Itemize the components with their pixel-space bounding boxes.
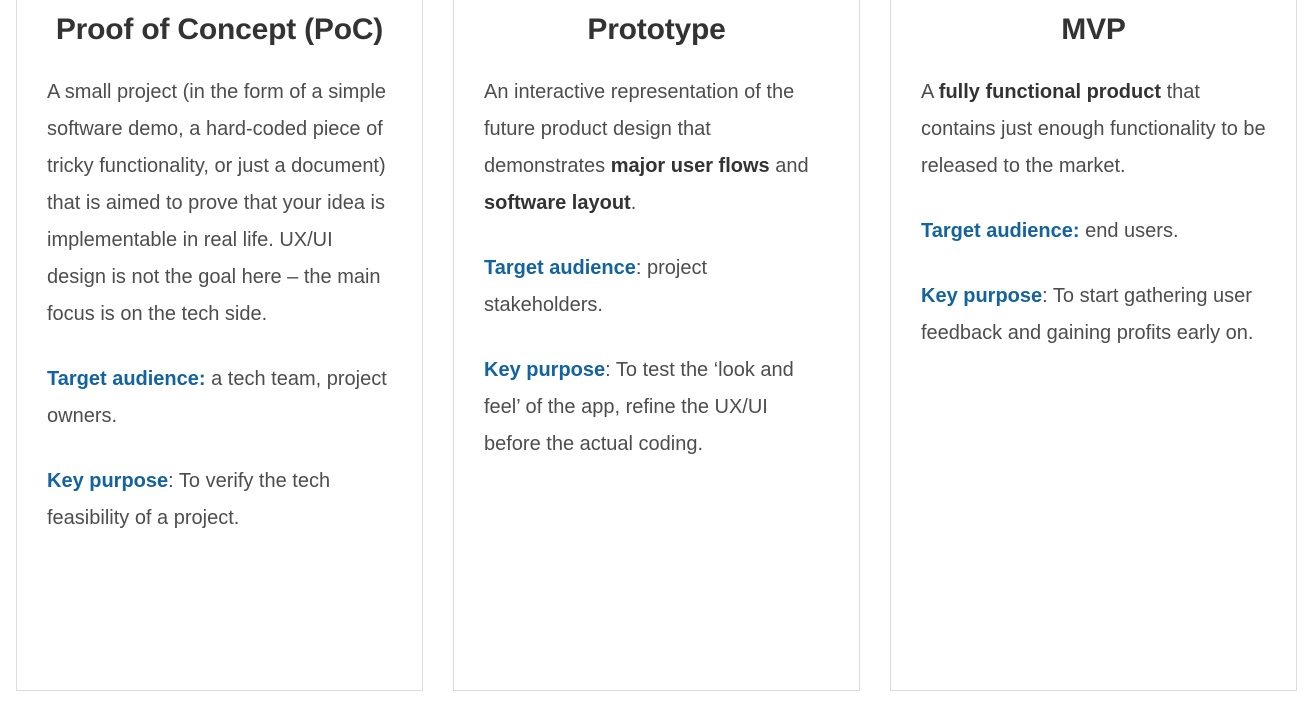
card-poc: Proof of Concept (PoC) A small project (… [16, 0, 423, 691]
card-paragraph-key-purpose: Key purpose: To verify the tech feasibil… [47, 463, 392, 537]
card-body: An interactive representation of the fut… [484, 74, 829, 463]
card-mvp: MVP A fully functional product that cont… [890, 0, 1297, 691]
field-label: Key purpose [921, 285, 1042, 307]
field-label: Key purpose [47, 470, 168, 492]
body-text: A [921, 81, 939, 103]
emphasis-text: major user flows [611, 155, 770, 177]
card-title: Proof of Concept (PoC) [47, 12, 392, 48]
field-label: Key purpose [484, 359, 605, 381]
card-paragraph-key-purpose: Key purpose: To test the ‘look and feel’… [484, 352, 829, 463]
field-label: Target audience: [921, 220, 1080, 242]
card-paragraph-target-audience: Target audience: end users. [921, 213, 1266, 250]
card-paragraph-target-audience: Target audience: a tech team, project ow… [47, 361, 392, 435]
card-paragraph: An interactive representation of the fut… [484, 74, 829, 222]
body-text: . [631, 192, 637, 214]
card-paragraph: A small project (in the form of a simple… [47, 74, 392, 333]
card-title: Prototype [484, 12, 829, 48]
card-prototype: Prototype An interactive representation … [453, 0, 860, 691]
field-label: Target audience: [47, 368, 206, 390]
field-label: Target audience [484, 257, 636, 279]
body-text: and [770, 155, 809, 177]
comparison-cards-row: Proof of Concept (PoC) A small project (… [0, 0, 1313, 703]
body-text: A small project (in the form of a simple… [47, 81, 386, 325]
body-text: end users. [1080, 220, 1179, 242]
card-title: MVP [921, 12, 1266, 48]
card-paragraph: A fully functional product that contains… [921, 74, 1266, 185]
card-paragraph-key-purpose: Key purpose: To start gathering user fee… [921, 278, 1266, 352]
card-paragraph-target-audience: Target audience: project stakeholders. [484, 250, 829, 324]
emphasis-text: software layout [484, 192, 631, 214]
card-body: A small project (in the form of a simple… [47, 74, 392, 537]
card-body: A fully functional product that contains… [921, 74, 1266, 352]
emphasis-text: fully functional product [939, 81, 1161, 103]
